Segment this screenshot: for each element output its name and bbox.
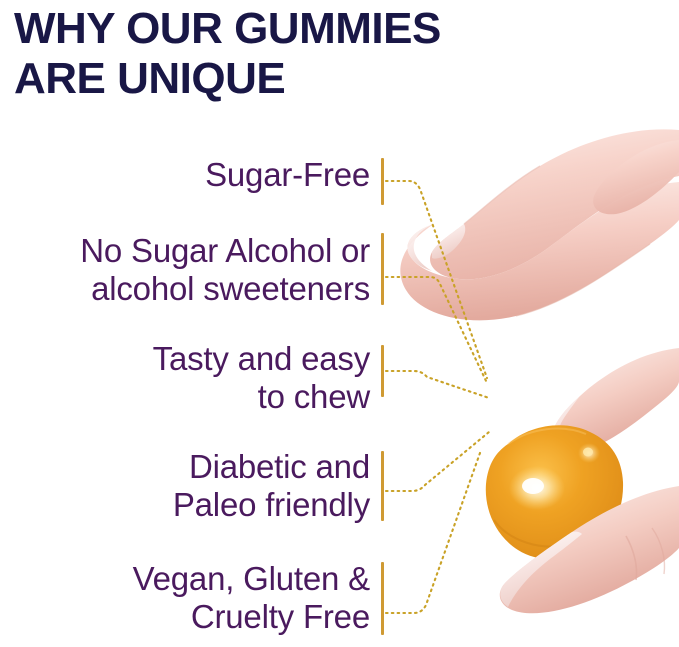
- tick-bar-5: [381, 562, 384, 635]
- feature-item-sugar-free: Sugar-Free: [0, 156, 370, 194]
- tick-bar-2: [381, 233, 384, 305]
- infographic-canvas: WHY OUR GUMMIES ARE UNIQUE: [0, 0, 679, 647]
- feature-item-diabetic-paleo: Diabetic and Paleo friendly: [0, 448, 370, 524]
- tick-bar-4: [381, 451, 384, 521]
- tick-bar-1: [381, 158, 384, 205]
- tick-bar-3: [381, 345, 384, 397]
- feature-item-no-sugar-alcohol: No Sugar Alcohol or alcohol sweeteners: [0, 232, 370, 308]
- page-title: WHY OUR GUMMIES ARE UNIQUE: [14, 4, 654, 104]
- feature-item-vegan-gluten-cruelty-free: Vegan, Gluten & Cruelty Free: [0, 560, 370, 636]
- hand-holding-gummy-photo: [390, 120, 679, 647]
- feature-item-tasty-easy-chew: Tasty and easy to chew: [0, 340, 370, 416]
